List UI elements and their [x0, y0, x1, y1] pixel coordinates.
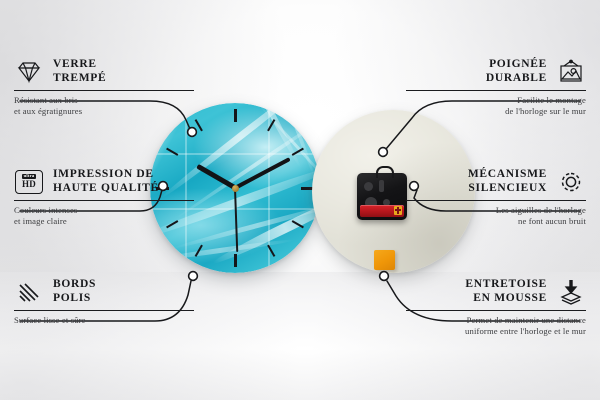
feature-title-line1: POIGNÉE	[489, 58, 547, 70]
feature-divider	[14, 90, 194, 91]
feature-title-line2: SILENCIEUX	[468, 182, 547, 194]
connector-dot-entretoise	[380, 272, 389, 281]
feature-title-line2: TREMPÉ	[53, 72, 106, 84]
feature-title-line1: ENTRETOISE	[465, 278, 547, 290]
feature-verre-trempe: VERRE TREMPÉ Résistant aux bris et aux é…	[14, 58, 194, 117]
feature-divider	[406, 90, 586, 91]
feature-divider	[14, 200, 194, 201]
feature-sub-line1: Surface lisse et sûre	[14, 315, 86, 325]
gear-icon	[556, 169, 586, 195]
stacked-arrow-down-icon	[556, 279, 586, 305]
feature-divider	[406, 310, 586, 311]
feature-title-line2: DURABLE	[486, 72, 547, 84]
diagonal-lines-icon	[14, 279, 44, 305]
feature-title-line2: POLIS	[53, 292, 91, 304]
feature-sub-line2: de l'horloge sur le mur	[505, 106, 586, 116]
feature-sub-line2: ne font aucun bruit	[518, 216, 586, 226]
feature-title-line1: BORDS	[53, 278, 96, 290]
feature-sub-line1: Les aiguilles de l'horloge	[496, 205, 586, 215]
feature-divider	[14, 310, 194, 311]
feature-title-line1: VERRE	[53, 58, 97, 70]
feature-title-line2: EN MOUSSE	[473, 292, 547, 304]
ultra-hd-large-text: HD	[22, 180, 36, 189]
feature-sub-line1: Facilite le montage	[517, 95, 586, 105]
feature-sub-line2: et aux égratignures	[14, 106, 82, 116]
feature-sub-line1: Permet de maintenir une distance	[467, 315, 586, 325]
connector-dot-verre-trempe	[188, 128, 197, 137]
feature-sub-line1: Résistant aux bris	[14, 95, 78, 105]
feature-title-line2: HAUTE QUALITÉ	[53, 182, 159, 194]
feature-divider	[406, 200, 586, 201]
connector-dot-poignee	[379, 148, 388, 157]
feature-sub-line2: uniforme entre l'horloge et le mur	[465, 326, 586, 336]
ultra-hd-icon: ultra HD	[14, 169, 44, 195]
feature-sub-line1: Couleurs intenses	[14, 205, 77, 215]
feature-title-line1: MÉCANISME	[468, 168, 547, 180]
infographic-canvas: VERRE TREMPÉ Résistant aux bris et aux é…	[0, 0, 600, 400]
feature-entretoise-en-mousse: ENTRETOISE EN MOUSSE Permet de maintenir…	[406, 278, 586, 337]
feature-sub-line2: et image claire	[14, 216, 67, 226]
diamond-icon	[14, 59, 44, 85]
hanging-picture-icon	[556, 59, 586, 85]
feature-poignee-durable: POIGNÉE DURABLE Facilite le montage de l…	[406, 58, 586, 117]
feature-bords-polis: BORDS POLIS Surface lisse et sûre	[14, 278, 194, 326]
feature-mecanisme-silencieux: MÉCANISME SILENCIEUX Les aiguilles de l'…	[406, 168, 586, 227]
feature-title-line1: IMPRESSION DE	[53, 168, 154, 180]
feature-impression-haute-qualite: ultra HD IMPRESSION DE HAUTE QUALITÉ Cou…	[14, 168, 194, 227]
